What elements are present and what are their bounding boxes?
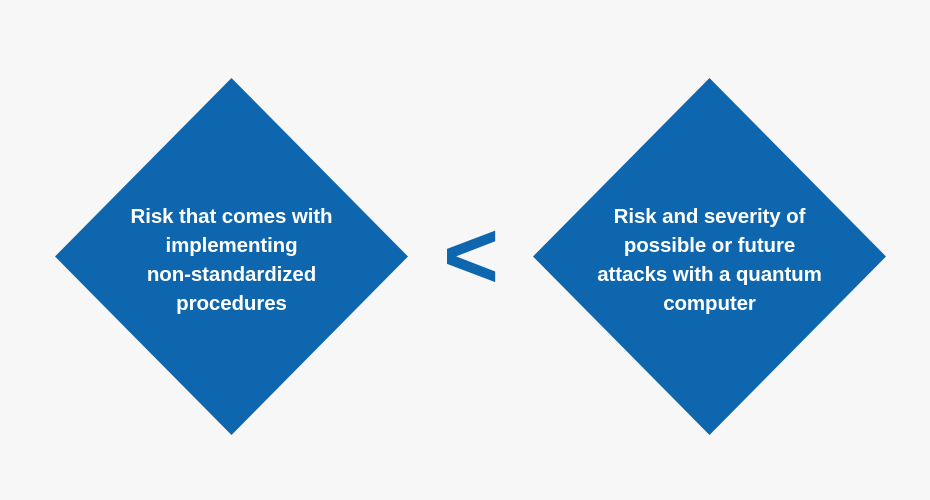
diamond-left-label: Risk that comes with implementing non-st…: [107, 202, 357, 318]
diagram-canvas: Risk that comes with implementing non-st…: [0, 0, 930, 500]
less-than-operator-icon: <: [432, 206, 510, 306]
diamond-shape-right: Risk and severity of possible or future …: [533, 78, 886, 435]
diamond-right-label: Risk and severity of possible or future …: [579, 202, 841, 318]
diamond-shape-left: Risk that comes with implementing non-st…: [55, 78, 408, 435]
